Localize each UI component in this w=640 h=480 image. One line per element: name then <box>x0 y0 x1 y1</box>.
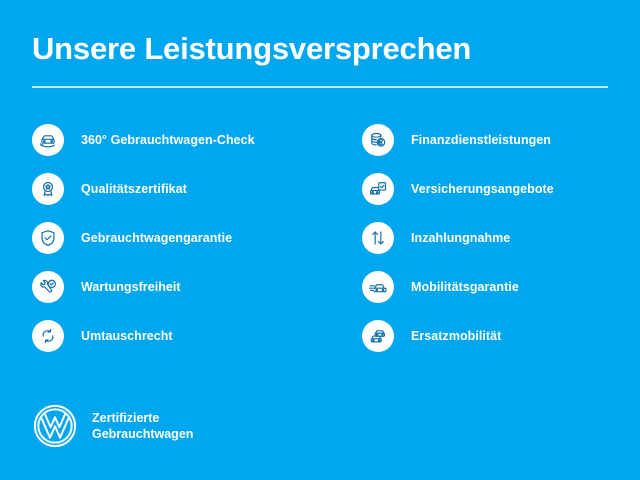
promise-label: Inzahlungnahme <box>411 230 510 246</box>
promise-item-mobilitaetsgarantie[interactable]: Mobilitätsgarantie <box>362 271 632 303</box>
promise-label: Mobilitätsgarantie <box>411 279 519 295</box>
promise-item-versicherungsangebote[interactable]: Versicherungsangebote <box>362 173 632 205</box>
promise-item-inzahlungnahme[interactable]: Inzahlungnahme <box>362 222 632 254</box>
exchange-arrows-icon <box>32 320 64 352</box>
promise-item-ersatzmobilitaet[interactable]: Ersatzmobilität <box>362 320 632 352</box>
car-motion-icon <box>362 271 394 303</box>
two-cars-icon <box>362 320 394 352</box>
brand-lockup: Zertifizierte Gebrauchtwagen <box>32 403 193 449</box>
promise-label: Versicherungsangebote <box>411 181 554 197</box>
promise-item-gebrauchtwagen-check[interactable]: 360° Gebrauchtwagen-Check <box>32 124 332 156</box>
coins-euro-icon <box>362 124 394 156</box>
promise-label: Ersatzmobilität <box>411 328 501 344</box>
promise-item-finanzdienstleistungen[interactable]: Finanzdienstleistungen <box>362 124 632 156</box>
promise-label: Wartungsfreiheit <box>81 279 181 295</box>
title-divider <box>32 86 608 88</box>
promise-label: 360° Gebrauchtwagen-Check <box>81 132 255 148</box>
promises-right-column: Finanzdienstleistungen Versicherungsange… <box>362 124 632 369</box>
volkswagen-logo <box>32 403 78 449</box>
promise-item-qualitaetszertifikat[interactable]: Qualitätszertifikat <box>32 173 332 205</box>
up-down-arrows-icon <box>362 222 394 254</box>
promise-item-wartungsfreiheit[interactable]: Wartungsfreiheit <box>32 271 332 303</box>
promises-left-column: 360° Gebrauchtwagen-Check Qualitätszerti… <box>32 124 332 369</box>
shield-check-icon <box>32 222 64 254</box>
promise-item-gebrauchtwagengarantie[interactable]: Gebrauchtwagengarantie <box>32 222 332 254</box>
wrench-check-icon <box>32 271 64 303</box>
brand-text-line-2: Gebrauchtwagen <box>92 426 193 442</box>
promises-poster: Unsere Leistungsversprechen 360° Gebrauc… <box>0 0 640 480</box>
promise-label: Finanzdienstleistungen <box>411 132 551 148</box>
brand-text: Zertifizierte Gebrauchtwagen <box>92 410 193 442</box>
quality-seal-icon <box>32 173 64 205</box>
promise-label: Umtauschrecht <box>81 328 173 344</box>
promise-label: Qualitätszertifikat <box>81 181 187 197</box>
car-document-icon <box>362 173 394 205</box>
promise-item-umtauschrecht[interactable]: Umtauschrecht <box>32 320 332 352</box>
page-title: Unsere Leistungsversprechen <box>32 31 471 67</box>
car-360-check-icon <box>32 124 64 156</box>
brand-text-line-1: Zertifizierte <box>92 410 193 426</box>
promise-label: Gebrauchtwagengarantie <box>81 230 232 246</box>
